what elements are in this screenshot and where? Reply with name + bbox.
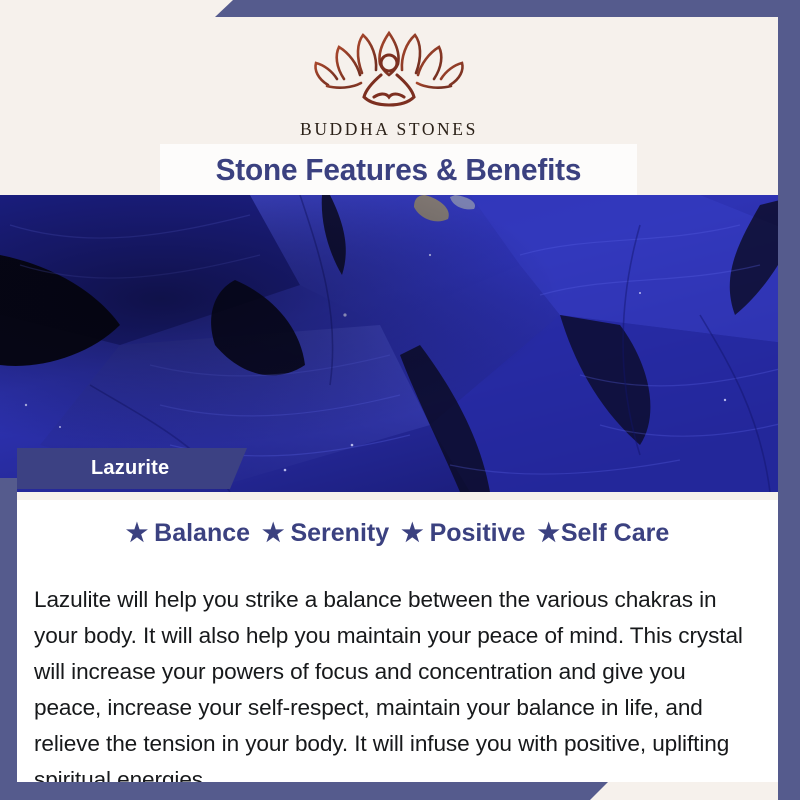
- benefit-balance: ★ Balance: [126, 519, 250, 548]
- frame-right-band: [778, 0, 800, 800]
- frame-left-band: [0, 478, 17, 800]
- star-icon: ★: [537, 521, 559, 546]
- stone-benefits-infographic: BUDDHA STONES Stone Features & Benefits: [0, 0, 800, 800]
- title-panel: Stone Features & Benefits: [160, 144, 637, 195]
- frame-top-band: [215, 0, 800, 17]
- lazurite-stone-photo: [0, 195, 800, 492]
- stone-description: Lazulite will help you strike a balance …: [34, 582, 756, 798]
- benefit-label: Positive: [430, 519, 526, 548]
- star-icon: ★: [126, 521, 148, 546]
- lotus-meditation-figure-icon: [304, 23, 474, 115]
- description-card: ★ Balance ★ Serenity ★ Positive ★ Self C…: [17, 492, 778, 782]
- frame-bottom-band: [0, 782, 608, 800]
- benefit-label: Serenity: [290, 519, 389, 548]
- benefit-serenity: ★ Serenity: [262, 519, 389, 548]
- star-icon: ★: [401, 521, 423, 546]
- stone-name-banner: Lazurite: [17, 448, 247, 489]
- star-icon: ★: [262, 521, 284, 546]
- benefit-positive: ★ Positive: [401, 519, 525, 548]
- benefit-label: Self Care: [561, 519, 669, 548]
- benefit-label: Balance: [154, 519, 250, 548]
- card-top-strip: [17, 492, 778, 500]
- benefits-row: ★ Balance ★ Serenity ★ Positive ★ Self C…: [17, 519, 778, 548]
- brand-name: BUDDHA STONES: [300, 119, 478, 140]
- page-title: Stone Features & Benefits: [216, 152, 582, 188]
- benefit-self-care: ★ Self Care: [537, 519, 669, 548]
- stone-name: Lazurite: [91, 457, 169, 480]
- brand-logo: BUDDHA STONES: [0, 23, 778, 140]
